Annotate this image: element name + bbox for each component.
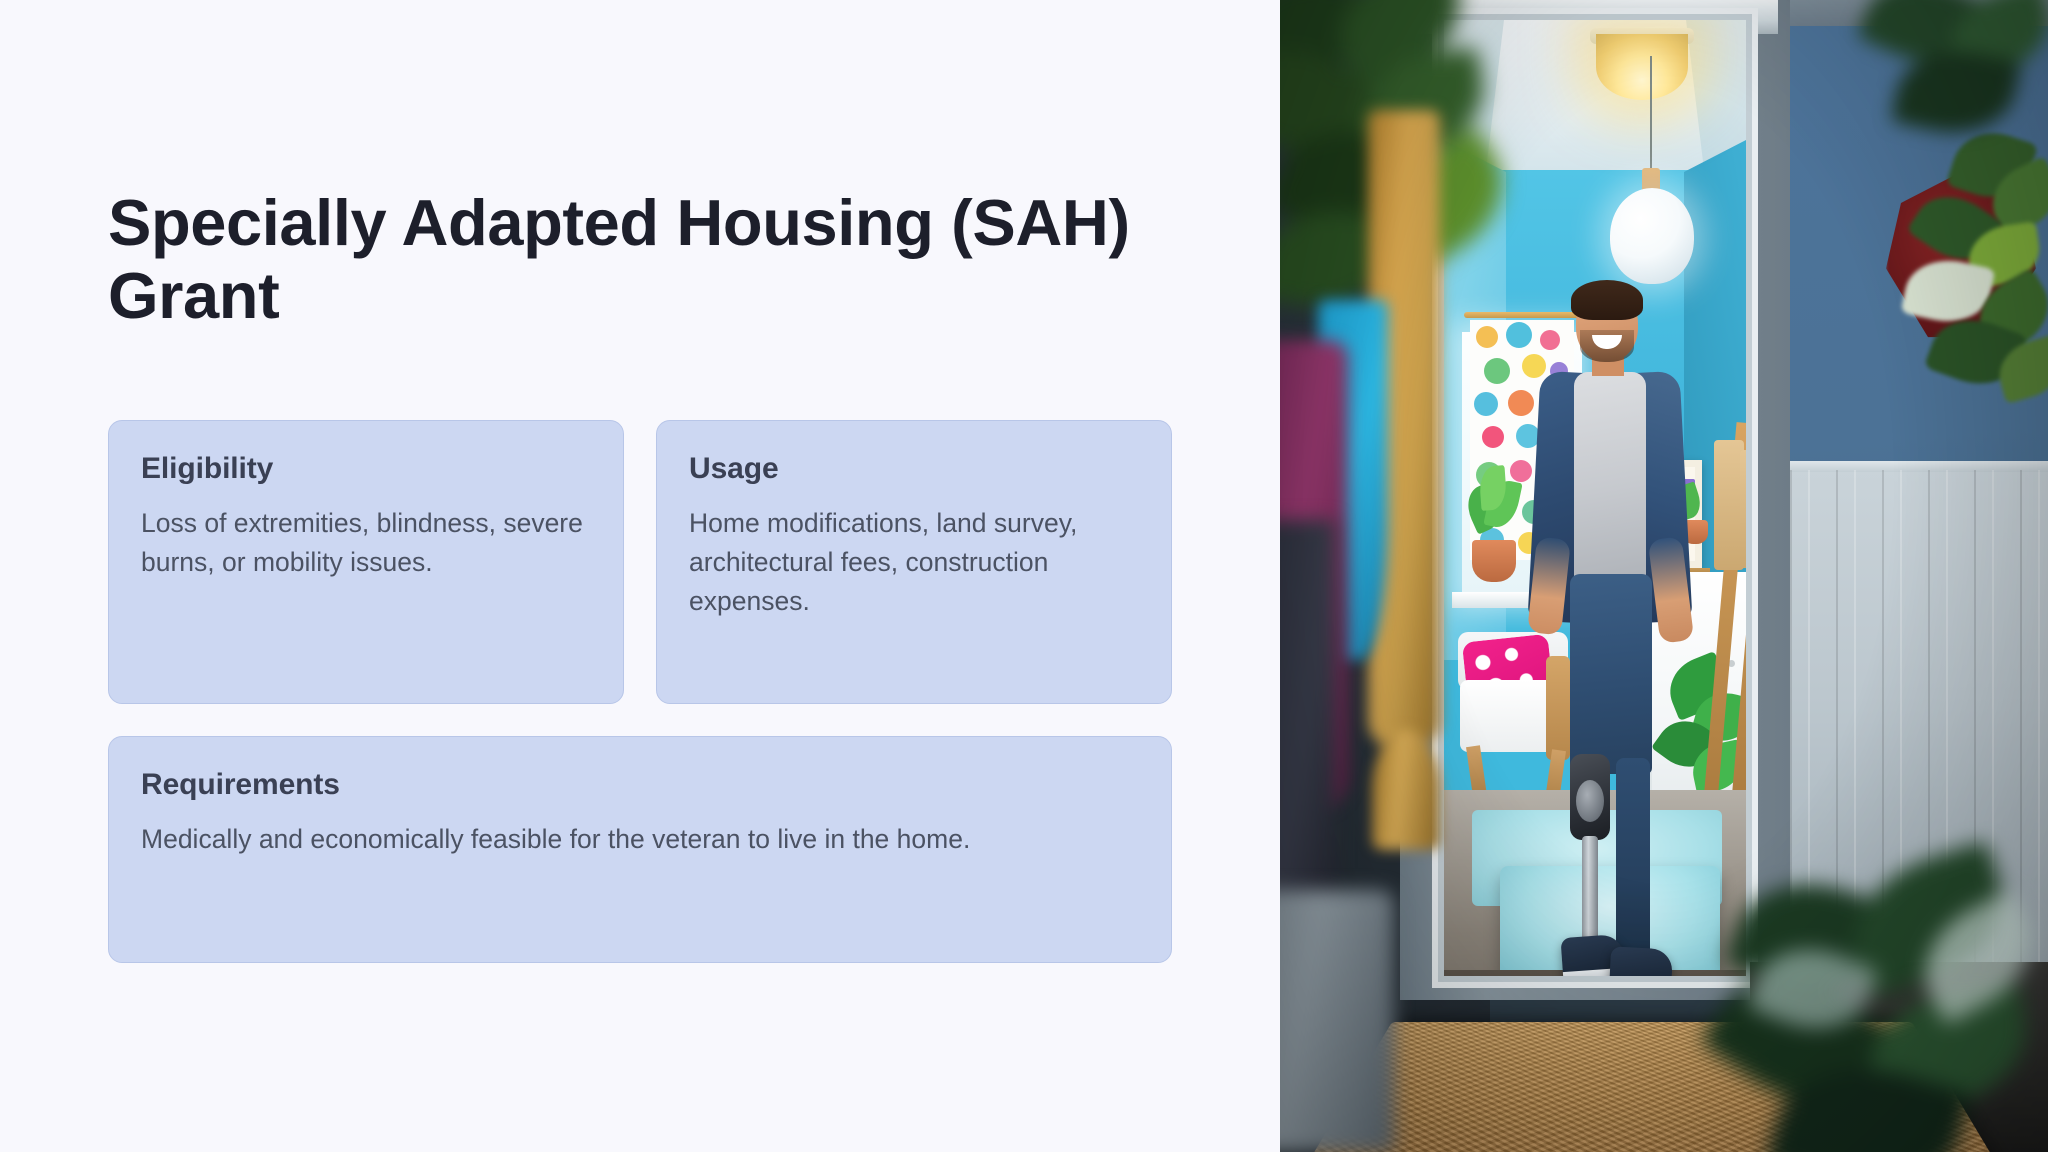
info-card-eligibility-heading: Eligibility [141, 451, 591, 487]
pendant-lamp-cord [1650, 56, 1652, 174]
info-card-requirements[interactable]: Requirements Medically and economically … [108, 736, 1172, 963]
page-title: Specially Adapted Housing (SAH) Grant [108, 186, 1178, 333]
info-card-requirements-heading: Requirements [141, 767, 1139, 803]
hanging-towel [1740, 450, 1746, 568]
info-card-eligibility[interactable]: Eligibility Loss of extremities, blindne… [108, 420, 624, 704]
info-card-eligibility-body: Loss of extremities, blindness, severe b… [141, 504, 591, 582]
foreground-bucket [1280, 890, 1394, 1152]
gray-tshirt [1574, 372, 1646, 584]
sneaker-right [1609, 946, 1673, 976]
terracotta-pot [1472, 540, 1516, 582]
info-card-usage-heading: Usage [689, 451, 1139, 487]
wreath-decoration [1858, 132, 2048, 392]
info-card-usage-body: Home modifications, land survey, archite… [689, 504, 1139, 621]
info-card-usage[interactable]: Usage Home modifications, land survey, a… [656, 420, 1172, 704]
info-card-row-top: Eligibility Loss of extremities, blindne… [108, 420, 1172, 704]
photo-pane [1280, 0, 2048, 1152]
foreground-foliage-top-right [1858, 0, 2048, 160]
info-card-requirements-body: Medically and economically feasible for … [141, 820, 1139, 859]
right-leg [1616, 758, 1650, 958]
slide-root: Specially Adapted Housing (SAH) Grant El… [0, 0, 2048, 1152]
prosthetic-knee-joint [1576, 780, 1604, 822]
content-pane: Specially Adapted Housing (SAH) Grant El… [0, 0, 1280, 1152]
jeans [1570, 574, 1652, 774]
ceiling-flush-light [1596, 34, 1688, 100]
pendant-lamp-globe [1610, 188, 1694, 284]
prosthetic-pylon [1582, 836, 1598, 944]
interior-doorway-photo [1280, 0, 2048, 1152]
man-walking [1518, 288, 1698, 976]
hair [1571, 280, 1643, 320]
info-cards-area: Eligibility Loss of extremities, blindne… [108, 420, 1172, 963]
foreground-foliage-bottom-right [1718, 852, 2048, 1152]
curtain-tieback [1372, 730, 1440, 850]
